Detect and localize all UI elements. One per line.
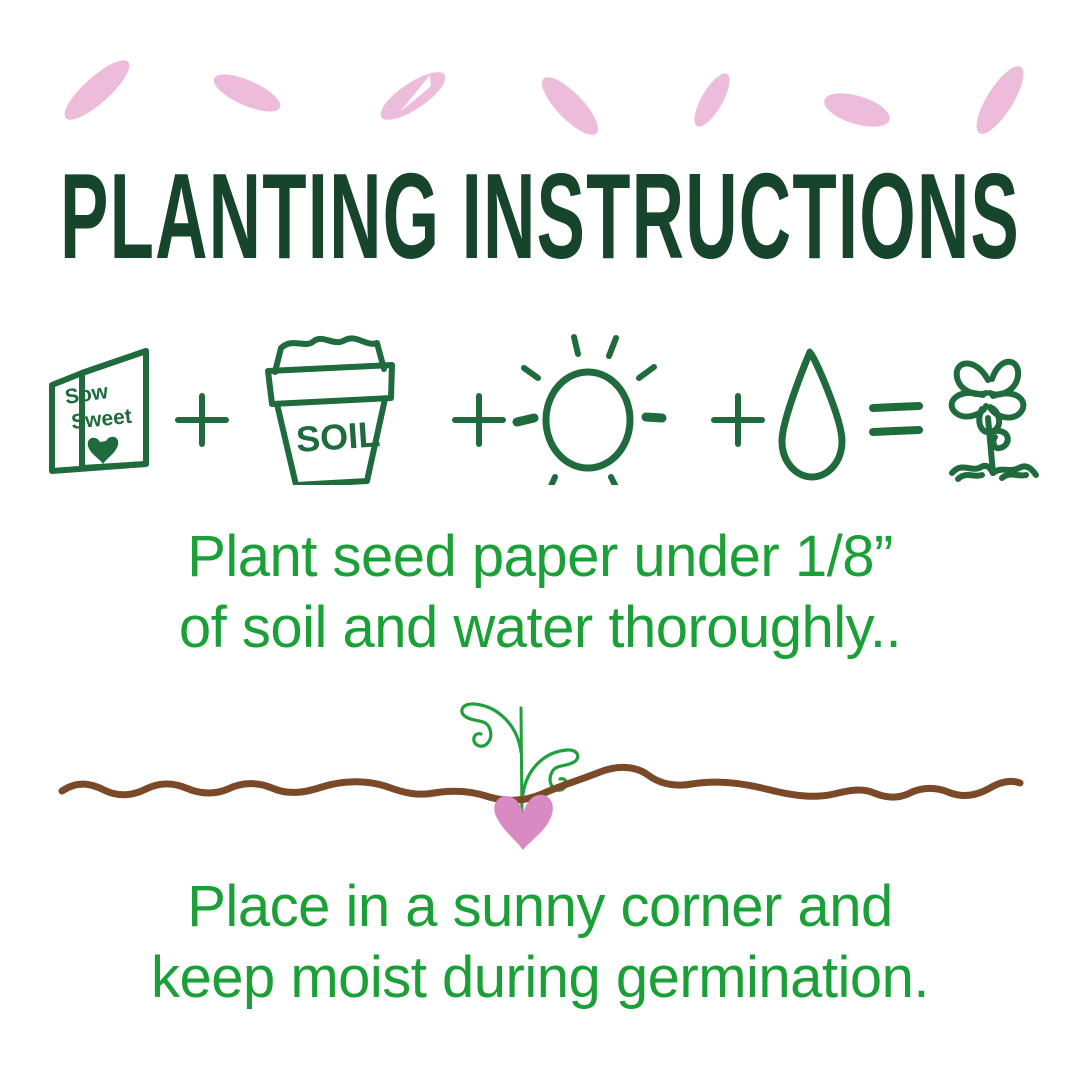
plus-operator-icon [455,396,503,444]
page-title: PLANTING INSTRUCTIONS [0,160,1080,285]
water-drop-icon [782,352,842,477]
sprout-leaf-left-icon [462,704,521,752]
icon-equation-row: Sow Sweet SOIL [0,325,1080,485]
petal-icon [968,60,1031,140]
plus-operator-icon [178,396,226,444]
instruction-line: keep moist during germination. [0,943,1080,1014]
petal-icon [209,67,285,119]
instruction-text-bottom: Place in a sunny corner and keep moist d… [0,872,1080,1014]
instruction-line: of soil and water thoroughly.. [0,593,1080,664]
sprout-in-soil-illustration [0,690,1080,865]
petal-icon [534,70,605,143]
instruction-line: Place in a sunny corner and [0,872,1080,943]
soil-pot-label: SOIL [295,413,382,460]
plus-operator-icon [714,396,762,444]
petal-icon [374,64,452,128]
petal-icon [820,87,893,134]
svg-text:SOIL: SOIL [295,413,382,460]
flower-icon [952,362,1036,479]
sun-icon [517,337,662,485]
petal-icon [57,52,137,128]
page-title-text: PLANTING INSTRUCTIONS [60,160,1020,280]
seed-paper-card-label: Sow Sweet [63,380,132,464]
falling-flower-petals [0,0,1080,150]
svg-text:Sow: Sow [63,380,110,409]
equals-operator-icon [873,406,919,432]
soil-pot-icon [268,338,392,485]
instruction-line: Plant seed paper under 1/8” [0,522,1080,593]
instruction-text-top: Plant seed paper under 1/8” of soil and … [0,522,1080,664]
planting-instructions-card: PLANTING INSTRUCTIONS Sow Sweet [0,0,1080,1079]
svg-text:Sweet: Sweet [70,405,133,434]
petal-icon [688,69,736,131]
